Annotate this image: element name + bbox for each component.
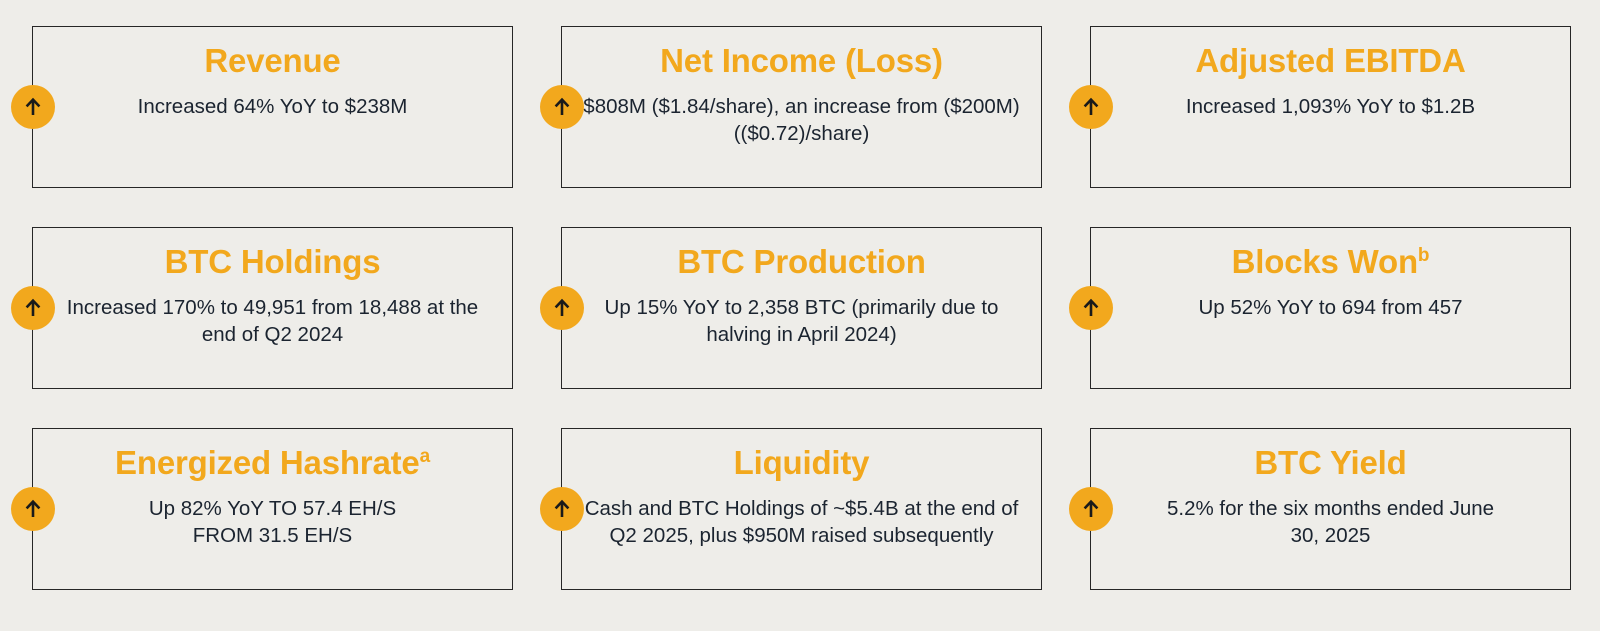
up-arrow-icon — [540, 286, 584, 330]
metric-card-body: Increased 170% to 49,951 from 18,488 at … — [47, 294, 498, 349]
metric-card-btc-yield[interactable]: BTC Yield 5.2% for the six months ended … — [1090, 428, 1571, 590]
metric-title-footnote-marker: b — [1418, 245, 1429, 266]
metric-title-text: Energized Hashrate — [115, 444, 420, 481]
metric-card-body: Up 82% YoY TO 57.4 EH/S FROM 31.5 EH/S — [123, 495, 423, 550]
metric-card-energized-hashrate[interactable]: Energized Hashratea Up 82% YoY TO 57.4 E… — [32, 428, 513, 590]
up-arrow-icon — [1069, 487, 1113, 531]
metric-card-btc-production[interactable]: BTC Production Up 15% YoY to 2,358 BTC (… — [561, 227, 1042, 389]
metric-card-body: Increased 1,093% YoY to $1.2B — [1186, 93, 1475, 120]
up-arrow-icon — [11, 286, 55, 330]
metric-title-text: Adjusted EBITDA — [1195, 42, 1465, 79]
metric-card-body: 5.2% for the six months ended June 30, 2… — [1151, 495, 1511, 550]
metric-card-body: Up 52% YoY to 694 from 457 — [1198, 294, 1462, 321]
metric-card-revenue[interactable]: Revenue Increased 64% YoY to $238M — [32, 26, 513, 188]
up-arrow-icon — [11, 85, 55, 129]
metric-title-text: Blocks Won — [1232, 243, 1418, 280]
up-arrow-icon — [11, 487, 55, 531]
metric-card-btc-holdings[interactable]: BTC Holdings Increased 170% to 49,951 fr… — [32, 227, 513, 389]
metric-card-title: Net Income (Loss) — [660, 44, 943, 79]
metric-title-text: Revenue — [204, 42, 340, 79]
metric-card-net-income-loss[interactable]: Net Income (Loss) $808M ($1.84/share), a… — [561, 26, 1042, 188]
metric-title-text: Liquidity — [734, 444, 870, 481]
metric-card-title: Adjusted EBITDA — [1195, 44, 1465, 79]
metrics-highlights-board: Revenue Increased 64% YoY to $238M Net I… — [0, 0, 1600, 631]
metric-card-body: Up 15% YoY to 2,358 BTC (primarily due t… — [576, 294, 1027, 349]
metric-card-liquidity[interactable]: Liquidity Cash and BTC Holdings of ~$5.4… — [561, 428, 1042, 590]
metric-title-text: BTC Yield — [1254, 444, 1406, 481]
metric-title-text: Net Income (Loss) — [660, 42, 943, 79]
metric-card-title: Energized Hashratea — [115, 446, 430, 481]
up-arrow-icon — [540, 85, 584, 129]
metric-card-body: $808M ($1.84/share), an increase from ($… — [576, 93, 1027, 148]
metric-card-title: Blocks Wonb — [1232, 245, 1430, 280]
up-arrow-icon — [1069, 286, 1113, 330]
metric-card-blocks-won[interactable]: Blocks Wonb Up 52% YoY to 694 from 457 — [1090, 227, 1571, 389]
metric-card-title: BTC Holdings — [165, 245, 381, 280]
metric-card-body: Cash and BTC Holdings of ~$5.4B at the e… — [576, 495, 1027, 550]
metric-title-text: BTC Holdings — [165, 243, 381, 280]
metrics-card-grid: Revenue Increased 64% YoY to $238M Net I… — [32, 26, 1568, 590]
up-arrow-icon — [540, 487, 584, 531]
metric-card-title: Liquidity — [734, 446, 870, 481]
metric-card-body: Increased 64% YoY to $238M — [138, 93, 408, 120]
metric-card-title: BTC Yield — [1254, 446, 1406, 481]
up-arrow-icon — [1069, 85, 1113, 129]
metric-card-adjusted-ebitda[interactable]: Adjusted EBITDA Increased 1,093% YoY to … — [1090, 26, 1571, 188]
metric-card-title: Revenue — [204, 44, 340, 79]
metric-title-footnote-marker: a — [420, 446, 430, 467]
metric-title-text: BTC Production — [677, 243, 925, 280]
metric-card-title: BTC Production — [677, 245, 925, 280]
